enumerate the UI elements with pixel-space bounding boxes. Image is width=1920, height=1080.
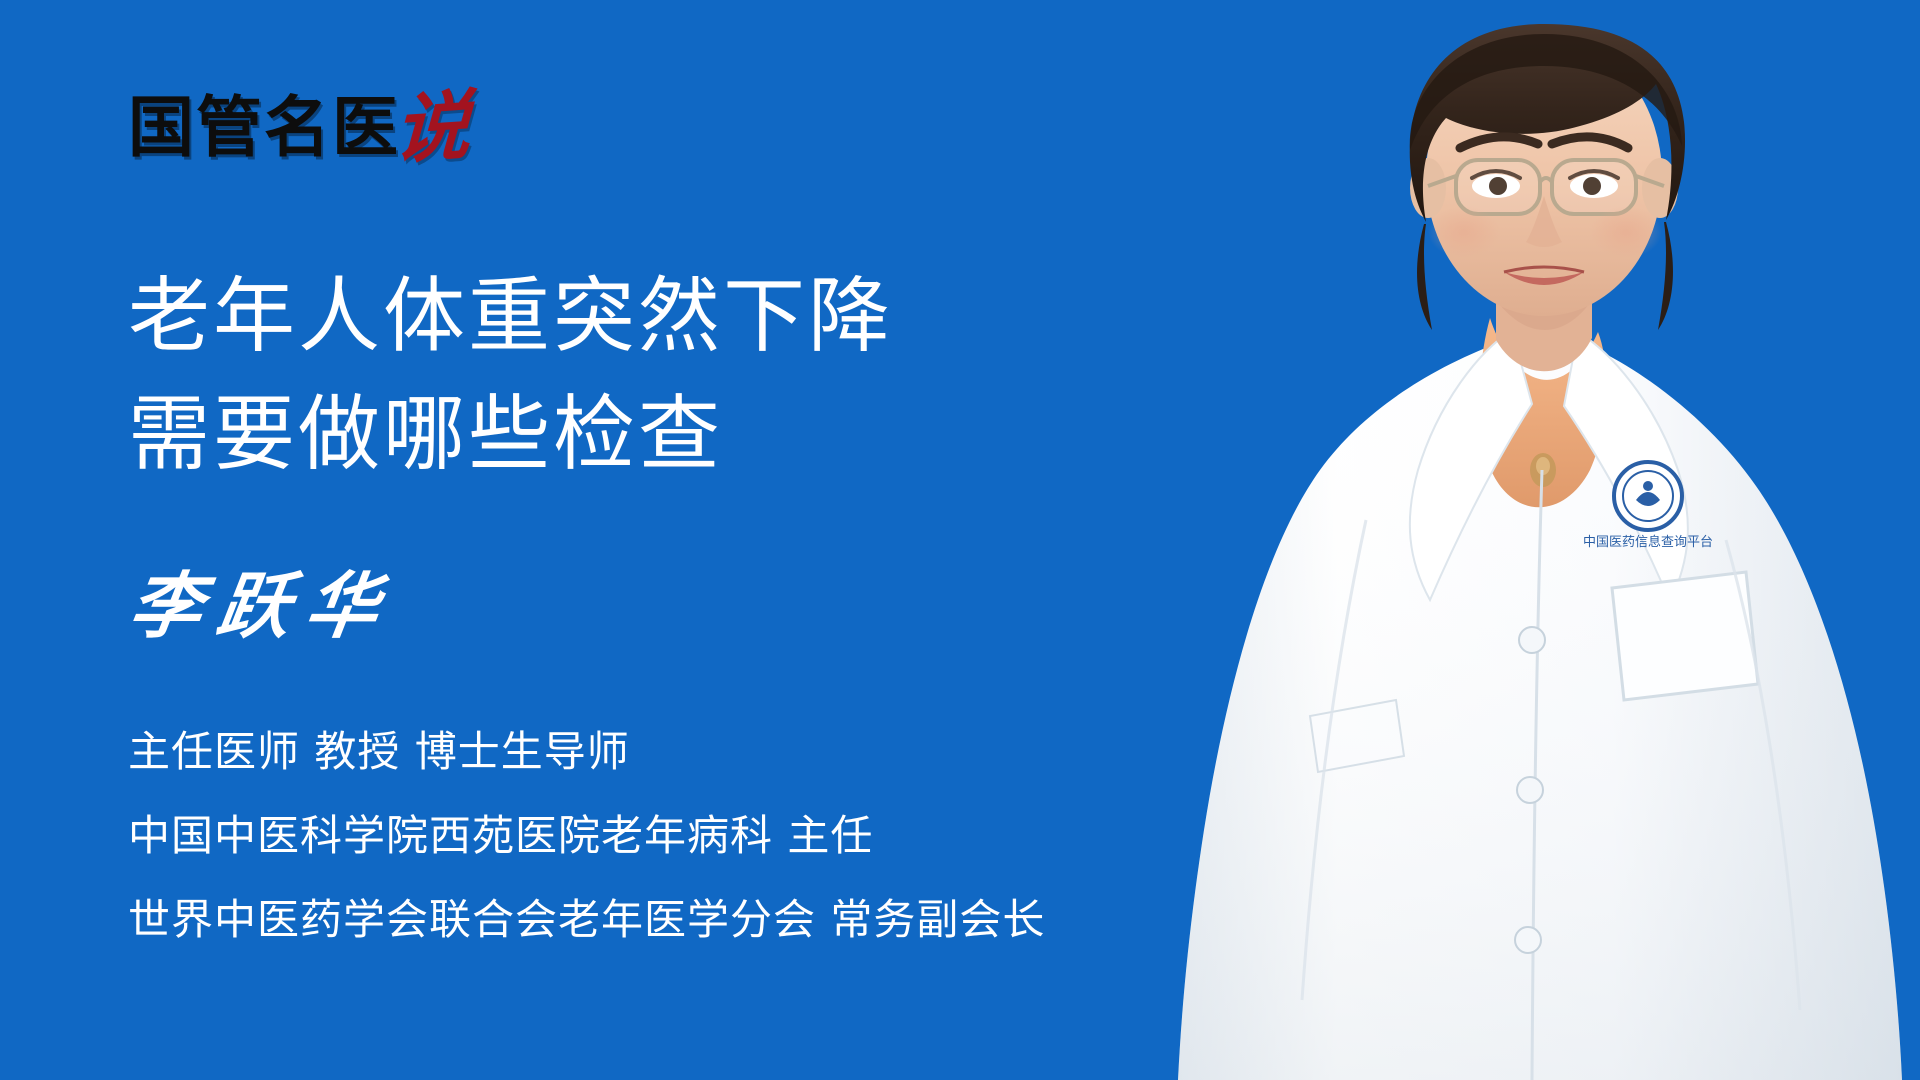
doctor-credentials: 主任医师 教授 博士生导师 中国中医科学院西苑医院老年病科 主任 世界中医药学会… xyxy=(128,710,1188,962)
title-card: 中国医药信息查询平台 xyxy=(0,0,1920,1080)
title-line-1: 老年人体重突然下降 xyxy=(128,258,1158,376)
text-column: 国管名医 说 老年人体重突然下降 需要做哪些检查 李跃华 主任医师 教授 博士生… xyxy=(0,0,1230,1080)
cheek-right xyxy=(1590,206,1662,258)
doctor-name: 李跃华 xyxy=(124,565,400,647)
program-logo: 国管名医 说 xyxy=(128,95,470,161)
coat-button xyxy=(1519,627,1545,653)
badge-caption: 中国医药信息查询平台 xyxy=(1583,534,1713,550)
coat-chest-pocket xyxy=(1612,572,1758,700)
credential-line-3: 世界中医药学会联合会老年医学分会 常务副会长 xyxy=(128,878,1188,962)
coat-button xyxy=(1517,777,1543,803)
title-line-2: 需要做哪些检查 xyxy=(128,376,1158,494)
page-title: 老年人体重突然下降 需要做哪些检查 xyxy=(128,258,1158,494)
doctor-portrait-photo: 中国医药信息查询平台 xyxy=(1160,0,1920,1080)
coat-button xyxy=(1515,927,1541,953)
logo-main-text: 国管名医 xyxy=(128,95,400,161)
credential-line-2: 中国中医科学院西苑医院老年病科 主任 xyxy=(128,794,1188,878)
cheek-left xyxy=(1428,206,1500,258)
logo-accent-text: 说 xyxy=(393,92,472,163)
coat-group: 中国医药信息查询平台 xyxy=(1178,318,1902,1080)
doctor-illustration: 中国医药信息查询平台 xyxy=(1160,0,1920,1080)
credential-line-1: 主任医师 教授 博士生导师 xyxy=(128,710,1188,794)
head-group xyxy=(1410,24,1685,330)
